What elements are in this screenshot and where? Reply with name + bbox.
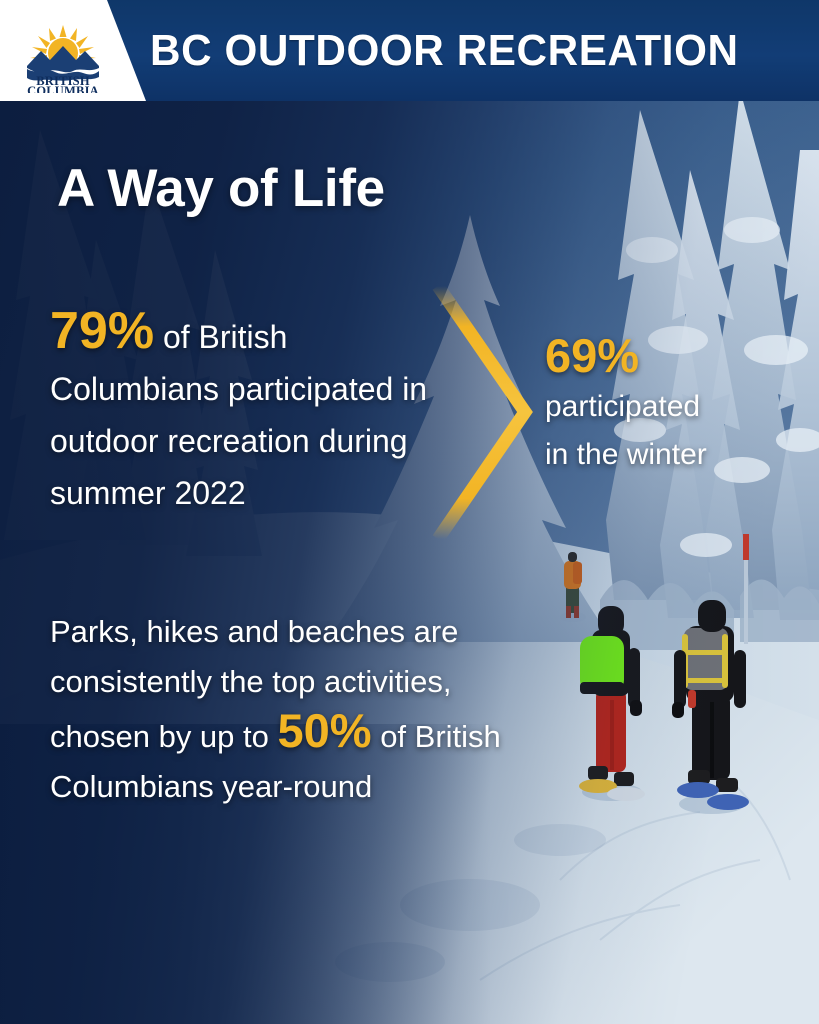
stat-winter-value: 69% <box>545 332 815 379</box>
activities-value: 50% <box>278 704 372 757</box>
activities-paragraph: Parks, hikes and beaches are consistentl… <box>50 607 555 812</box>
stat-summer-value: 79% <box>50 302 154 360</box>
stat-winter-line1: participated <box>545 390 700 423</box>
infographic-page: BRITISH COLUMBIA BC OUTDOOR RECREATION A… <box>0 0 819 1024</box>
stat-summer: 79% of British Columbians participated i… <box>50 305 460 519</box>
stat-winter: 69% participated in the winter <box>545 332 815 479</box>
page-title: A Way of Life <box>57 158 385 219</box>
main-content: A Way of Life 79% of British Columbians … <box>0 0 819 1024</box>
stat-winter-line2: in the winter <box>545 438 707 471</box>
